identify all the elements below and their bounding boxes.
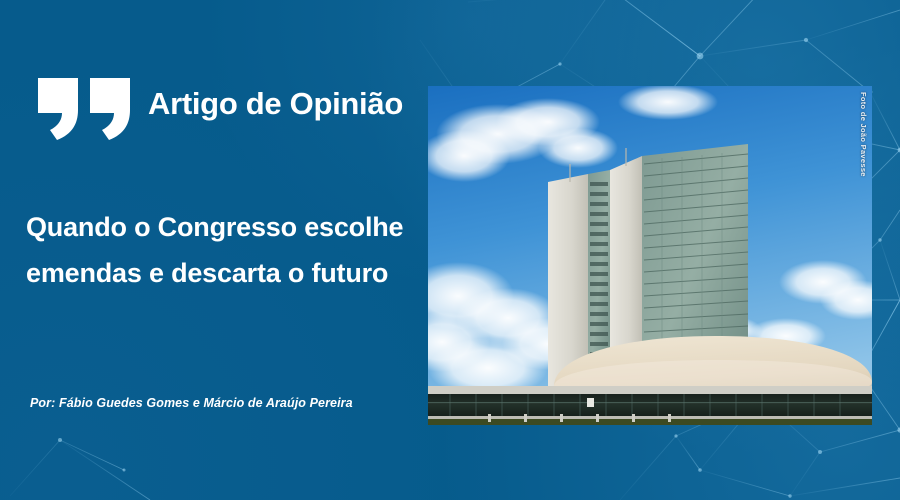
opinion-article-banner: Artigo de Opinião Quando o Congresso esc… <box>0 0 900 500</box>
byline: Por: Fábio Guedes Gomes e Márcio de Araú… <box>30 396 353 410</box>
page-title: Quando o Congresso escolhe emendas e des… <box>26 204 416 297</box>
congresso-nacional-photo-illustration <box>428 86 872 425</box>
kicker-label: Artigo de Opinião <box>148 86 403 122</box>
quote-mark-icon <box>38 78 130 140</box>
article-photo: Foto de João Pavesse <box>428 86 872 425</box>
photo-credit: Foto de João Pavesse <box>856 92 870 212</box>
text-column: Artigo de Opinião Quando o Congresso esc… <box>0 0 430 500</box>
